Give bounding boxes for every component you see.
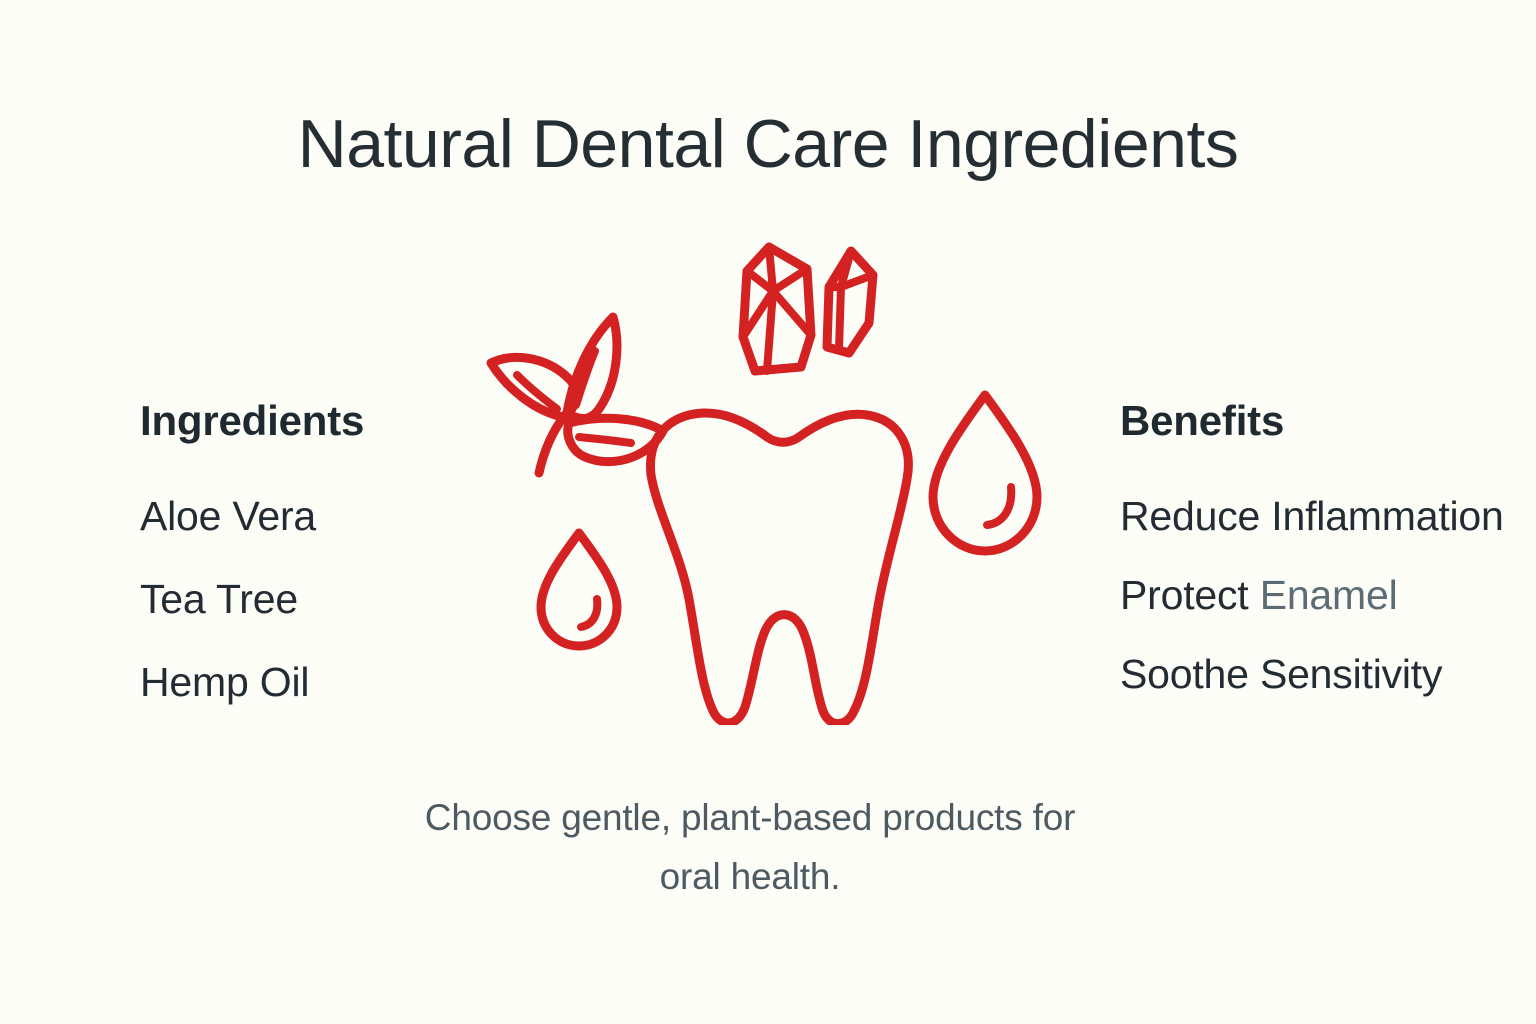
benefits-header: Benefits <box>1120 396 1520 446</box>
tooth-icon <box>650 413 908 724</box>
caption-text: Choose gentle, plant-based products for … <box>420 788 1080 906</box>
ingredients-list: Aloe Vera Tea Tree Hemp Oil <box>140 492 470 707</box>
leaf-sprig-icon <box>491 317 663 473</box>
crystal-cluster-icon <box>743 247 873 371</box>
water-drop-large-icon <box>933 395 1037 551</box>
water-drop-small-icon <box>541 533 617 646</box>
list-item: Reduce Inflammation <box>1120 492 1520 541</box>
poster-canvas: Natural Dental Care Ingredients Ingredie… <box>0 0 1536 1024</box>
list-item: Tea Tree <box>140 575 470 624</box>
list-item: Soothe Sensitivity <box>1120 650 1520 699</box>
list-item: Protect Enamel <box>1120 571 1520 620</box>
page-title: Natural Dental Care Ingredients <box>0 104 1536 184</box>
benefit-text: Reduce Inflammation <box>1120 493 1504 539</box>
benefit-highlight-word: Enamel <box>1260 572 1398 618</box>
benefit-text: Soothe Sensitivity <box>1120 651 1442 697</box>
ingredients-header: Ingredients <box>140 396 470 446</box>
benefits-list: Reduce Inflammation Protect Enamel Sooth… <box>1120 492 1520 699</box>
illustration-group <box>455 225 1075 725</box>
list-item: Hemp Oil <box>140 658 470 707</box>
list-item: Aloe Vera <box>140 492 470 541</box>
benefits-column: Benefits Reduce Inflammation Protect Ena… <box>1120 396 1520 729</box>
benefit-text: Protect <box>1120 572 1260 618</box>
ingredients-column: Ingredients Aloe Vera Tea Tree Hemp Oil <box>140 396 470 741</box>
